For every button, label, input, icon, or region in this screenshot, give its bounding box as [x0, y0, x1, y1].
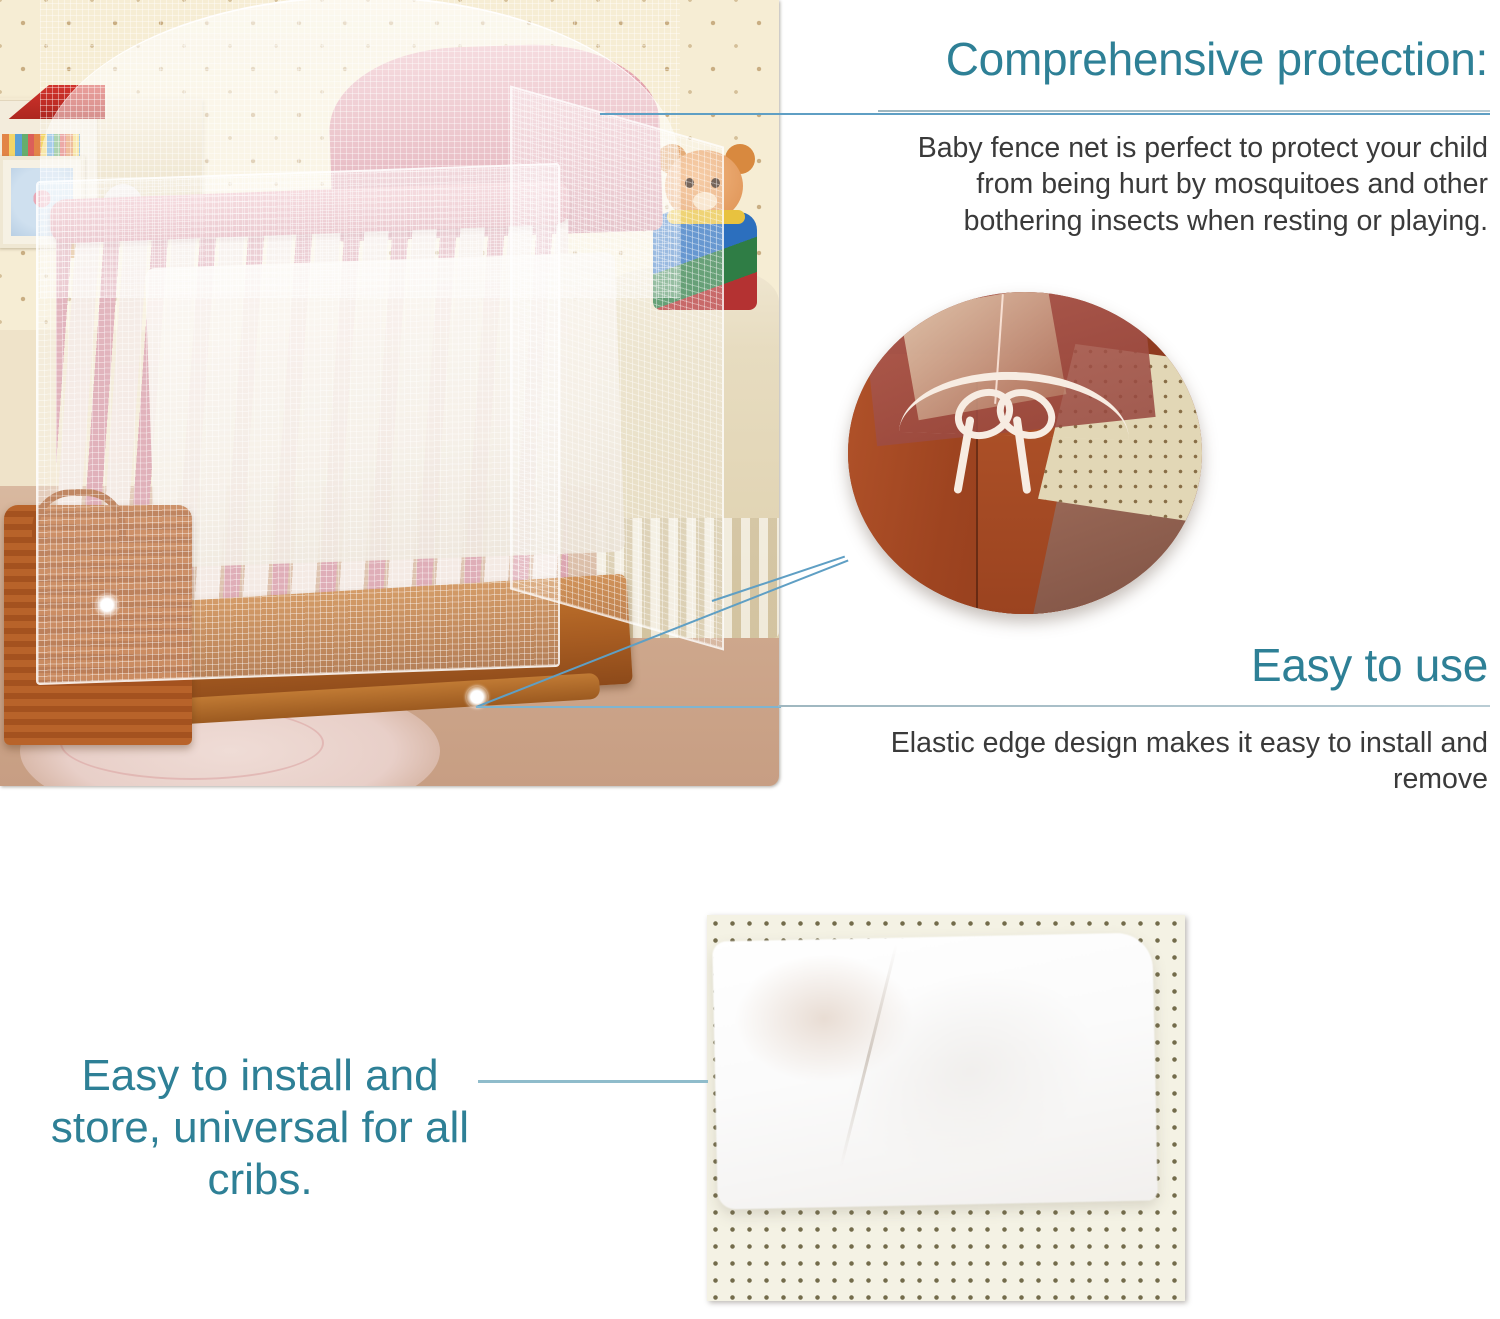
connector-line-protection: [600, 113, 1490, 115]
body-easy-to-use: Elastic edge design makes it easy to ins…: [880, 725, 1488, 798]
teddy-body: [653, 212, 757, 310]
heading-rule-protection: [878, 110, 1490, 112]
wicker-basket: [4, 505, 192, 745]
teddy-bear-toy: [649, 150, 767, 310]
infographic-page: Comprehensive protection: Baby fence net…: [0, 0, 1500, 1319]
connector-line-easy-to-install: [478, 1080, 708, 1083]
body-comprehensive-protection: Baby fence net is perfect to protect you…: [880, 130, 1488, 239]
teddy-eye-left: [685, 178, 694, 188]
heading-easy-to-use: Easy to use: [880, 642, 1488, 689]
baby-crib-with-mosquito-net-photo: [0, 0, 779, 786]
heading-comprehensive-protection: Comprehensive protection:: [880, 36, 1488, 83]
heading-rule-easy-to-use: [778, 705, 1490, 707]
corner-tie-detail-photo: [848, 292, 1202, 614]
teddy-eye-right: [711, 178, 720, 188]
crib-mattress: [145, 252, 625, 568]
heading-easy-to-install-and-store: Easy to install and store, universal for…: [50, 1050, 470, 1206]
teddy-snout: [693, 192, 717, 210]
folded-net-product-photo: [707, 915, 1185, 1301]
folded-mosquito-net: [712, 932, 1158, 1209]
connector-line-easy-to-use: [476, 706, 781, 708]
teddy-collar: [667, 210, 745, 224]
